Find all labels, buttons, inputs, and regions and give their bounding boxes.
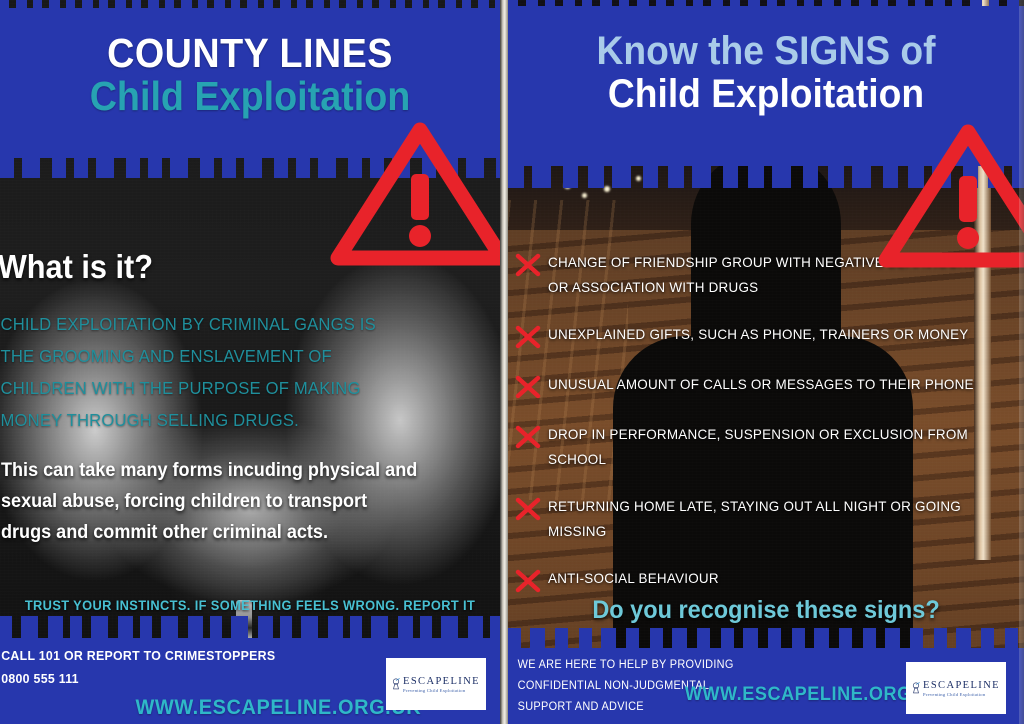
right-header: Know the SIGNS of Child Exploitation bbox=[508, 30, 1024, 116]
left-footer-contact: CALL 101 OR REPORT TO CRIMESTOPPERS 0800… bbox=[1, 644, 275, 690]
right-title-line2: Child Exploitation bbox=[526, 73, 1006, 116]
keyhole-icon bbox=[912, 668, 920, 708]
sign-label: ANTI-SOCIAL BEHAVIOUR bbox=[548, 566, 719, 591]
left-website-url[interactable]: WWW.ESCAPELINE.ORG.UK bbox=[136, 696, 422, 720]
help-line-1: WE ARE HERE TO HELP BY PROVIDING bbox=[518, 655, 734, 676]
keyhole-icon bbox=[392, 664, 400, 704]
escapeline-logo: ESCAPELINE Preventing Child Exploitation bbox=[906, 662, 1006, 714]
left-section-heading: What is it? bbox=[0, 248, 153, 286]
page-edge-highlight bbox=[1019, 0, 1024, 724]
page-gutter bbox=[500, 0, 508, 724]
list-item: UNUSUAL AMOUNT OF CALLS OR MESSAGES TO T… bbox=[508, 372, 1024, 400]
signs-list: CHANGE OF FRIENDSHIP GROUP WITH NEGATIVE… bbox=[508, 250, 1024, 616]
red-x-icon bbox=[508, 372, 548, 400]
trust-your-instincts-line: TRUST YOUR INSTINCTS. IF SOMETHING FEELS… bbox=[13, 598, 488, 613]
logo-text-block: ESCAPELINE Preventing Child Exploitation bbox=[923, 680, 1000, 697]
red-x-icon bbox=[508, 322, 548, 350]
list-item: UNEXPLAINED GIFTS, SUCH AS PHONE, TRAINE… bbox=[508, 322, 1024, 350]
sign-label: UNEXPLAINED GIFTS, SUCH AS PHONE, TRAINE… bbox=[548, 322, 968, 347]
sign-label: UNUSUAL AMOUNT OF CALLS OR MESSAGES TO T… bbox=[548, 372, 974, 397]
red-x-icon bbox=[508, 422, 548, 450]
left-title-line1: COUNTY LINES bbox=[20, 32, 480, 75]
escapeline-logo: ESCAPELINE Preventing Child Exploitation bbox=[386, 658, 486, 710]
red-x-icon bbox=[508, 566, 548, 594]
sign-label: RETURNING HOME LATE, STAYING OUT ALL NIG… bbox=[548, 494, 980, 544]
logo-tagline: Preventing Child Exploitation bbox=[923, 692, 1000, 697]
red-x-icon bbox=[508, 494, 548, 522]
left-white-paragraph: This can take many forms incuding physic… bbox=[1, 455, 419, 548]
sign-label: DROP IN PERFORMANCE, SUSPENSION OR EXCLU… bbox=[548, 422, 980, 472]
leaflet-scan: COUNTY LINES Child Exploitation What is … bbox=[0, 0, 1024, 724]
left-title-line2: Child Exploitation bbox=[20, 75, 480, 118]
left-teal-paragraph: CHILD EXPLOITATION BY CRIMINAL GANGS IS … bbox=[1, 308, 400, 436]
warning-triangle-icon bbox=[878, 120, 1024, 270]
left-header: COUNTY LINES Child Exploitation bbox=[0, 32, 500, 118]
list-item: DROP IN PERFORMANCE, SUSPENSION OR EXCLU… bbox=[508, 422, 1024, 472]
logo-tagline: Preventing Child Exploitation bbox=[403, 688, 480, 693]
warning-triangle-icon bbox=[330, 118, 500, 268]
night-light bbox=[582, 193, 587, 198]
call-to-action: Do you recognise these signs? bbox=[523, 596, 1008, 625]
left-page: COUNTY LINES Child Exploitation What is … bbox=[0, 0, 500, 724]
logo-name: ESCAPELINE bbox=[923, 680, 1000, 691]
call-crimestoppers-line: CALL 101 OR REPORT TO CRIMESTOPPERS bbox=[1, 644, 275, 667]
logo-name: ESCAPELINE bbox=[403, 676, 480, 687]
logo-text-block: ESCAPELINE Preventing Child Exploitation bbox=[403, 676, 480, 693]
list-item: ANTI-SOCIAL BEHAVIOUR bbox=[508, 566, 1024, 594]
list-item: RETURNING HOME LATE, STAYING OUT ALL NIG… bbox=[508, 494, 1024, 544]
right-title-line1: Know the SIGNS of bbox=[526, 30, 1006, 73]
red-x-icon bbox=[508, 250, 548, 278]
crimestoppers-phone: 0800 555 111 bbox=[1, 667, 275, 690]
right-page: Know the SIGNS of Child Exploitation CHA… bbox=[508, 0, 1024, 724]
